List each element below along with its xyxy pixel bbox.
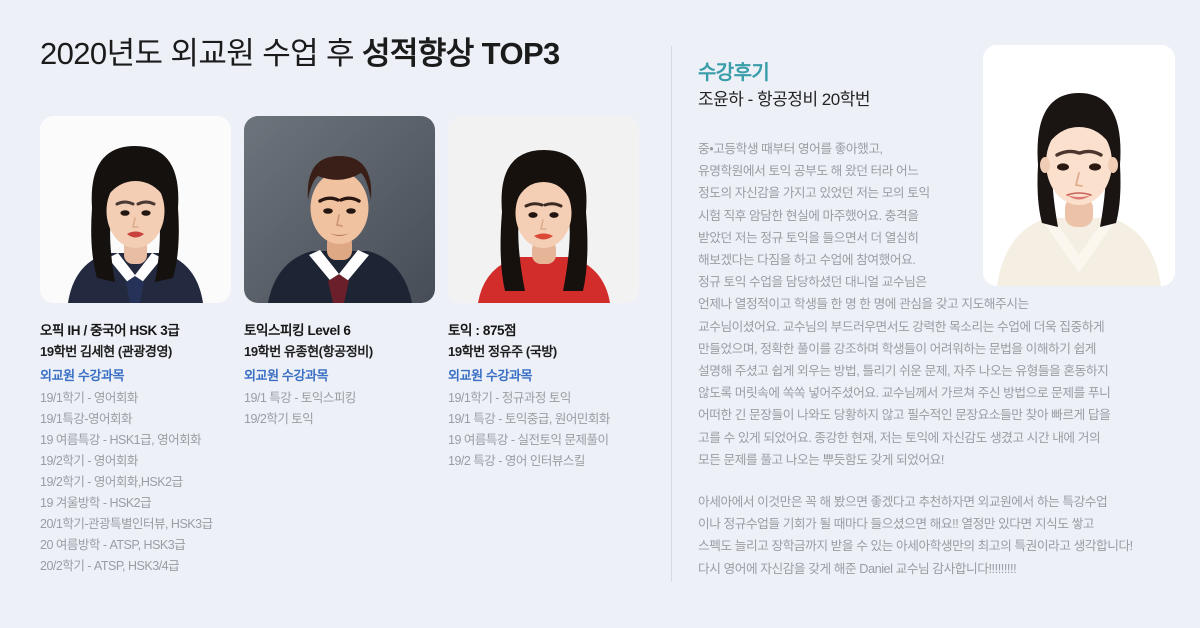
courses-list: 19/1학기 - 정규과정 토익 19/1 특강 - 토익중급, 원어민회화 1… xyxy=(448,388,637,472)
course-item: 19/1학기 - 영어회화 xyxy=(40,388,229,409)
review-body: 중•고등학생 때부터 영어를 좋아했고, 유명학원에서 토익 공부도 해 왔던 … xyxy=(698,138,1176,580)
review-heading: 수강후기 xyxy=(698,60,769,86)
student-card-list: 오픽 IH / 중국어 HSK 3급 19학번 김세현 (관광경영) 외교원 수… xyxy=(40,116,640,577)
student-info: 토익 : 875점 19학번 정유주 (국방) 외교원 수강과목 19/1학기 … xyxy=(448,321,639,472)
page-title-plain: 2020년도 외교원 수업 후 xyxy=(40,36,362,71)
courses-heading: 외교원 수강과목 xyxy=(448,366,637,385)
courses-list: 19/1학기 - 영어회화 19/1특강-영어회화 19 여름특강 - HSK1… xyxy=(40,388,229,577)
courses-list: 19/1 특강 - 토익스피킹 19/2학기 토익 xyxy=(244,388,433,430)
course-item: 20/2학기 - ATSP, HSK3/4급 xyxy=(40,556,229,577)
review-paragraph-1: 중•고등학생 때부터 영어를 좋아했고, 유명학원에서 토익 공부도 해 왔던 … xyxy=(698,138,1176,471)
student-achievement: 토익스피킹 Level 6 xyxy=(244,321,433,340)
page-title-bold: 성적향상 TOP3 xyxy=(362,36,560,71)
student-achievement: 토익 : 875점 xyxy=(448,321,637,340)
student-photo-yu-jong-hyeon xyxy=(244,116,435,303)
courses-heading: 외교원 수강과목 xyxy=(244,366,433,385)
course-item: 19 여름특강 - HSK1급, 영어회화 xyxy=(40,430,229,451)
student-photo-kim-se-hyeon xyxy=(40,116,231,303)
course-item: 20 여름방학 - ATSP, HSK3급 xyxy=(40,535,229,556)
review-subject: 조윤하 - 항공정비 20학번 xyxy=(698,88,870,112)
student-card: 토익스피킹 Level 6 19학번 유종현(항공정비) 외교원 수강과목 19… xyxy=(244,116,435,577)
course-item: 19/2 특강 - 영어 인터뷰스킬 xyxy=(448,451,637,472)
student-card: 오픽 IH / 중국어 HSK 3급 19학번 김세현 (관광경영) 외교원 수… xyxy=(40,116,231,577)
course-item: 19/1 특강 - 토익스피킹 xyxy=(244,388,433,409)
student-info: 오픽 IH / 중국어 HSK 3급 19학번 김세현 (관광경영) 외교원 수… xyxy=(40,321,231,577)
course-item: 19/1 특강 - 토익중급, 원어민회화 xyxy=(448,409,637,430)
student-info: 토익스피킹 Level 6 19학번 유종현(항공정비) 외교원 수강과목 19… xyxy=(244,321,435,430)
student-name: 19학번 유종현(항공정비) xyxy=(244,342,433,361)
course-item: 19/2학기 - 영어회화 xyxy=(40,451,229,472)
review-panel: 수강후기 조윤하 - 항공정비 20학번 xyxy=(672,0,1200,628)
course-item: 19/2학기 - 영어회화,HSK2급 xyxy=(40,472,229,493)
review-paragraph-2: 아세아에서 이것만은 꼭 해 봤으면 좋겠다고 추천하자면 외교원에서 하는 특… xyxy=(698,491,1176,580)
photo-text-wrap-spacer xyxy=(976,138,1176,288)
student-card: 토익 : 875점 19학번 정유주 (국방) 외교원 수강과목 19/1학기 … xyxy=(448,116,639,577)
student-name: 19학번 정유주 (국방) xyxy=(448,342,637,361)
student-achievement: 오픽 IH / 중국어 HSK 3급 xyxy=(40,321,229,340)
course-item: 19/2학기 토익 xyxy=(244,409,433,430)
student-name: 19학번 김세현 (관광경영) xyxy=(40,342,229,361)
course-item: 19 여름특강 - 실전토익 문제풀이 xyxy=(448,430,637,451)
course-item: 19/1특강-영어회화 xyxy=(40,409,229,430)
course-item: 20/1학기-관광특별인터뷰, HSK3급 xyxy=(40,514,229,535)
top3-panel: 2020년도 외교원 수업 후 성적향상 TOP3 xyxy=(0,0,671,628)
course-item: 19 겨울방학 - HSK2급 xyxy=(40,493,229,514)
course-item: 19/1학기 - 정규과정 토익 xyxy=(448,388,637,409)
page-title: 2020년도 외교원 수업 후 성적향상 TOP3 xyxy=(40,34,560,74)
courses-heading: 외교원 수강과목 xyxy=(40,366,229,385)
student-photo-jeong-yu-ju xyxy=(448,116,639,303)
